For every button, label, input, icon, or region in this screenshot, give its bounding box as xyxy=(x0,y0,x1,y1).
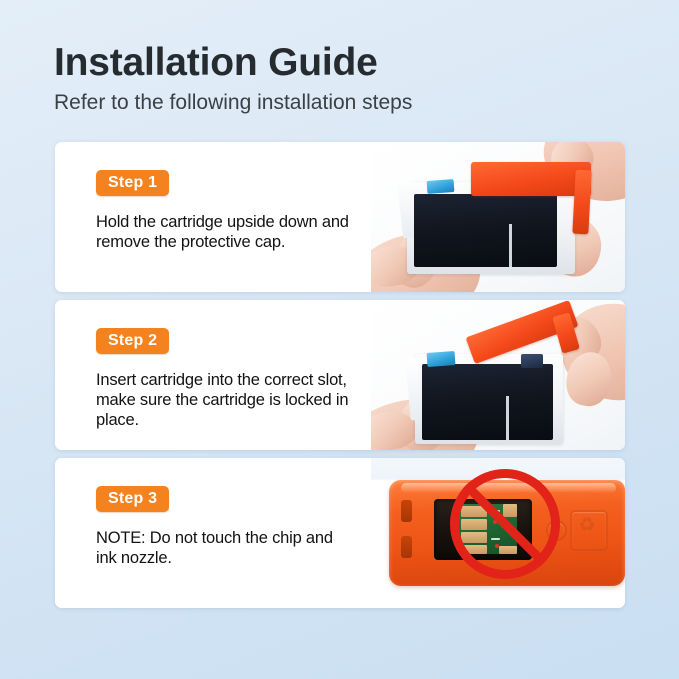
protective-cap xyxy=(471,162,591,196)
cap-notch-bottom xyxy=(401,536,412,558)
step-3-photo: ♻ xyxy=(371,458,625,608)
step-3-description: NOTE: Do not touch the chip and ink nozz… xyxy=(96,528,357,568)
cartridge-blue-tab xyxy=(427,179,455,194)
cartridge-ink-window xyxy=(422,364,553,440)
step-1-description: Hold the cartridge upside down and remov… xyxy=(96,212,357,252)
cartridge-ink-divider xyxy=(506,396,509,440)
prohibition-icon xyxy=(450,469,560,579)
page-title: Installation Guide xyxy=(54,40,614,86)
step-2-description: Insert cartridge into the correct slot, … xyxy=(96,370,357,430)
step-2-text-block: Step 2 Insert cartridge into the correct… xyxy=(55,300,371,450)
step-3-badge: Step 3 xyxy=(96,486,169,512)
recycle-icon: ♻ xyxy=(576,515,598,537)
step-card-3: Step 3 NOTE: Do not touch the chip and i… xyxy=(55,458,625,608)
step-card-1: Step 1 Hold the cartridge upside down an… xyxy=(55,142,625,292)
cartridge-blue-tab xyxy=(427,351,456,367)
cartridge-blue-tab-secondary xyxy=(521,354,543,368)
step-2-badge: Step 2 xyxy=(96,328,169,354)
step-1-text-block: Step 1 Hold the cartridge upside down an… xyxy=(55,142,371,292)
step-card-2: Step 2 Insert cartridge into the correct… xyxy=(55,300,625,450)
step-1-photo xyxy=(371,142,625,292)
step-3-text-block: Step 3 NOTE: Do not touch the chip and i… xyxy=(55,458,371,608)
cartridge-ink-divider xyxy=(509,224,512,267)
cartridge-ink-window xyxy=(414,194,557,267)
page-subtitle: Refer to the following installation step… xyxy=(54,90,614,116)
steps-list: Step 1 Hold the cartridge upside down an… xyxy=(55,142,625,616)
step-2-photo xyxy=(371,300,625,450)
step-1-badge: Step 1 xyxy=(96,170,169,196)
protective-cap-tab xyxy=(572,170,591,235)
installation-guide-page: Installation Guide Refer to the followin… xyxy=(0,0,679,679)
cap-notch-top xyxy=(401,500,412,522)
header: Installation Guide Refer to the followin… xyxy=(54,40,614,116)
